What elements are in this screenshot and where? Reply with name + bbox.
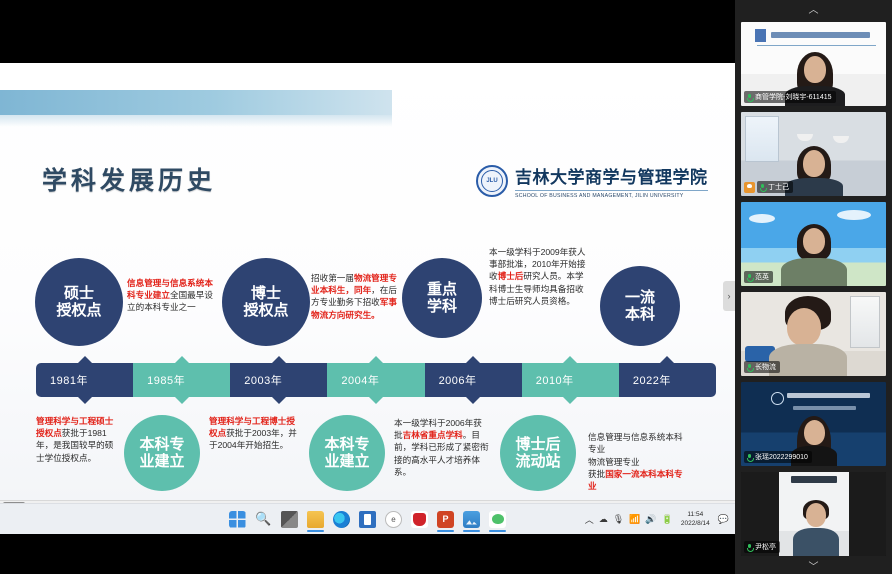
timeline-year: 2006年 [439, 372, 477, 388]
circle-line-1: 硕士 [64, 285, 94, 302]
note-1981: 管理科学与工程硕士授权点获批于1981年，是我国较早的硕士学位授权点。 [36, 415, 114, 464]
circle-line-2: 授权点 [243, 302, 288, 319]
tray-chevron-icon[interactable]: ︿ [585, 513, 594, 526]
microphone-on-icon [746, 94, 753, 101]
microphone-on-icon [759, 184, 766, 191]
powerpoint-slide[interactable]: 学科发展历史 JLU 吉林大学商学与管理学院 SCHOOL OF BUSINES… [0, 63, 735, 500]
timeline-bar: 1981年 1985年 2003年 20 [36, 363, 716, 397]
powerpoint-icon[interactable]: P [437, 511, 454, 528]
milestone-circle-doctor: 博士 授权点 [222, 258, 310, 346]
participant-name: 尹松亭 [755, 542, 776, 552]
logo-name-en: SCHOOL OF BUSINESS AND MANAGEMENT, JILIN… [515, 190, 708, 199]
university-logo: JLU 吉林大学商学与管理学院 SCHOOL OF BUSINESS AND M… [476, 163, 708, 199]
notch-down-icon [369, 397, 383, 404]
participant-name: 丁士己 [768, 182, 789, 192]
microphone-on-icon [746, 364, 753, 371]
participant-name: 商管学院-刘晓宇-611415 [755, 92, 832, 102]
host-badge-icon [744, 182, 755, 193]
timeline-segment-2006[interactable]: 2006年 [425, 363, 522, 397]
task-view-icon[interactable] [281, 511, 298, 528]
timeline-year: 2003年 [244, 372, 282, 388]
slide-title: 学科发展历史 [42, 161, 216, 197]
shared-screen-region: 学科发展历史 JLU 吉林大学商学与管理学院 SCHOOL OF BUSINES… [0, 0, 735, 574]
edge-icon[interactable] [333, 511, 350, 528]
circle-line-2: 流动站 [515, 453, 560, 470]
participant-nametag: 张瑶2022299010 [744, 451, 812, 463]
bottom-circle-postdoc: 博士后 流动站 [500, 415, 576, 491]
participant-nametag: 丁士己 [757, 181, 793, 193]
milestone-circle-master: 硕士 授权点 [35, 258, 123, 346]
photos-icon[interactable] [463, 511, 480, 528]
bottom-circle-undergrad-1: 本科专 业建立 [124, 415, 200, 491]
timeline-year: 2010年 [536, 372, 574, 388]
participant-name: 张瑶2022299010 [755, 452, 808, 462]
circle-line-2: 业建立 [324, 453, 369, 470]
microphone-on-icon [746, 274, 753, 281]
participant-tile[interactable]: 丁士己 [741, 112, 886, 196]
clock-date: 2022/8/14 [681, 520, 710, 529]
participant-nametag: 尹松亭 [744, 541, 780, 553]
circle-line-1: 博士后 [515, 436, 560, 453]
participant-tile[interactable]: 张瑶2022299010 [741, 382, 886, 466]
notch-down-icon [272, 397, 286, 404]
participant-tile[interactable]: 范英 [741, 202, 886, 286]
file-explorer-icon[interactable] [307, 511, 324, 528]
network-icon[interactable]: 📶 [629, 514, 640, 525]
participant-nametag: 范英 [744, 271, 773, 283]
360-browser-icon[interactable] [411, 511, 428, 528]
circle-line-1: 博士 [251, 285, 281, 302]
notch-down-icon [78, 397, 92, 404]
participant-tile[interactable]: 长物流 [741, 292, 886, 376]
note-pre: 招收第一届 [311, 273, 354, 283]
taskbar-icon-group: 🔍 e P [229, 511, 506, 528]
circle-line-2: 学科 [427, 298, 457, 315]
timeline-year: 1981年 [50, 372, 88, 388]
clock-time: 11:54 [681, 511, 710, 520]
logo-name-cn: 吉林大学商学与管理学院 [515, 163, 708, 188]
running-indicator [489, 530, 506, 532]
cloud-icon[interactable]: ☁ [599, 514, 608, 525]
circle-line-2: 本科 [625, 306, 655, 323]
participant-nametag: 商管学院-刘晓宇-611415 [744, 91, 836, 103]
start-icon[interactable] [229, 511, 246, 528]
university-seal-icon: JLU [476, 165, 508, 197]
notch-up-icon [175, 356, 189, 363]
timeline-segment-2010[interactable]: 2010年 [522, 363, 619, 397]
filmstrip-scroll-up-icon[interactable]: ︿ [735, 0, 892, 17]
note-2003: 管理科学与工程博士授权点获批于2003年，并于2004年开始招生。 [209, 415, 297, 452]
windows-taskbar: 🔍 e P ︿ ☁ 🎙 📶 🔊 🔋 11:54 2 [0, 503, 735, 534]
search-icon[interactable]: 🔍 [255, 511, 272, 528]
title-band [0, 90, 392, 115]
participant-tile[interactable]: 商管学院-刘晓宇-611415 [741, 22, 886, 106]
participant-name: 长物流 [755, 362, 776, 372]
clock[interactable]: 11:54 2022/8/14 [681, 511, 710, 529]
microphone-icon[interactable]: 🎙 [613, 514, 624, 525]
circle-line-1: 本科专 [139, 436, 184, 453]
system-tray: ︿ ☁ 🎙 📶 🔊 🔋 11:54 2022/8/14 💬 [585, 504, 729, 535]
note-2010: 本一级学科于2009年获人事部批准，2010年开始接收博士后研究人员。本学科博士… [489, 246, 589, 307]
timeline-segment-2022[interactable]: 2022年 [619, 363, 716, 397]
share-panel-collapse-icon[interactable]: › [723, 281, 735, 311]
wechat-icon[interactable] [489, 511, 506, 528]
microphone-on-icon [746, 454, 753, 461]
timeline-year: 1985年 [147, 372, 185, 388]
timeline-segment-1981[interactable]: 1981年 [36, 363, 133, 397]
notifications-icon[interactable]: 💬 [718, 514, 729, 525]
notch-down-icon [466, 397, 480, 404]
notch-up-icon [78, 356, 92, 363]
participant-name: 范英 [755, 272, 769, 282]
notch-up-icon [272, 356, 286, 363]
running-indicator [307, 530, 324, 532]
meeting-screen: 学科发展历史 JLU 吉林大学商学与管理学院 SCHOOL OF BUSINES… [0, 0, 892, 574]
participant-tile[interactable]: 尹松亭 [741, 472, 886, 556]
timeline-year: 2022年 [633, 372, 671, 388]
notch-up-icon [563, 356, 577, 363]
circle-line-1: 重点 [427, 281, 457, 298]
notch-down-icon [563, 397, 577, 404]
note-2004: 招收第一届物流管理专业本科生，同年，在后方专业勤务下招收军事物流方向研究生。 [311, 272, 399, 321]
timeline-segment-2004[interactable]: 2004年 [327, 363, 424, 397]
circle-line-1: 本科专 [324, 436, 369, 453]
internet-explorer-icon[interactable]: e [385, 511, 402, 528]
timeline-segment-1985[interactable]: 1985年 [133, 363, 230, 397]
note-1985: 信息管理与信息系统本科专业建立全国最早设立的本科专业之一 [127, 277, 215, 314]
running-indicator [437, 530, 454, 532]
timeline-year: 2004年 [341, 372, 379, 388]
filmstrip-scroll-down-icon[interactable]: ﹀ [735, 557, 892, 574]
seal-text: JLU [486, 178, 497, 184]
circle-line-2: 授权点 [56, 302, 101, 319]
milestone-circle-first-class: 一流 本科 [600, 266, 680, 346]
circle-line-2: 业建立 [139, 453, 184, 470]
battery-icon[interactable]: 🔋 [662, 514, 673, 525]
note-highlight: 吉林省重点学科 [403, 430, 463, 440]
notch-up-icon [660, 356, 674, 363]
microsoft-store-icon[interactable] [359, 511, 376, 528]
participant-nametag: 长物流 [744, 361, 780, 373]
timeline-segment-2003[interactable]: 2003年 [230, 363, 327, 397]
circle-line-1: 一流 [625, 289, 655, 306]
bottom-circle-undergrad-2: 本科专 业建立 [309, 415, 385, 491]
note-highlight: 博士后 [498, 271, 524, 281]
note-2006: 本一级学科于2006年获批吉林省重点学科。目前，学科已形成了紧密衔接的高水平人才… [394, 417, 489, 478]
notch-down-icon [175, 397, 189, 404]
milestone-circle-key-discipline: 重点 学科 [402, 258, 482, 338]
volume-icon[interactable]: 🔊 [645, 514, 656, 525]
notch-up-icon [466, 356, 480, 363]
running-indicator [463, 530, 480, 532]
participant-filmstrip: ︿ 商管学院-刘晓宇-611415 [735, 0, 892, 574]
note-2022: 信息管理与信息系统本科专业 物流管理专业 获批国家一流本科本科专业 [588, 419, 688, 492]
microphone-on-icon [746, 544, 753, 551]
notch-up-icon [369, 356, 383, 363]
